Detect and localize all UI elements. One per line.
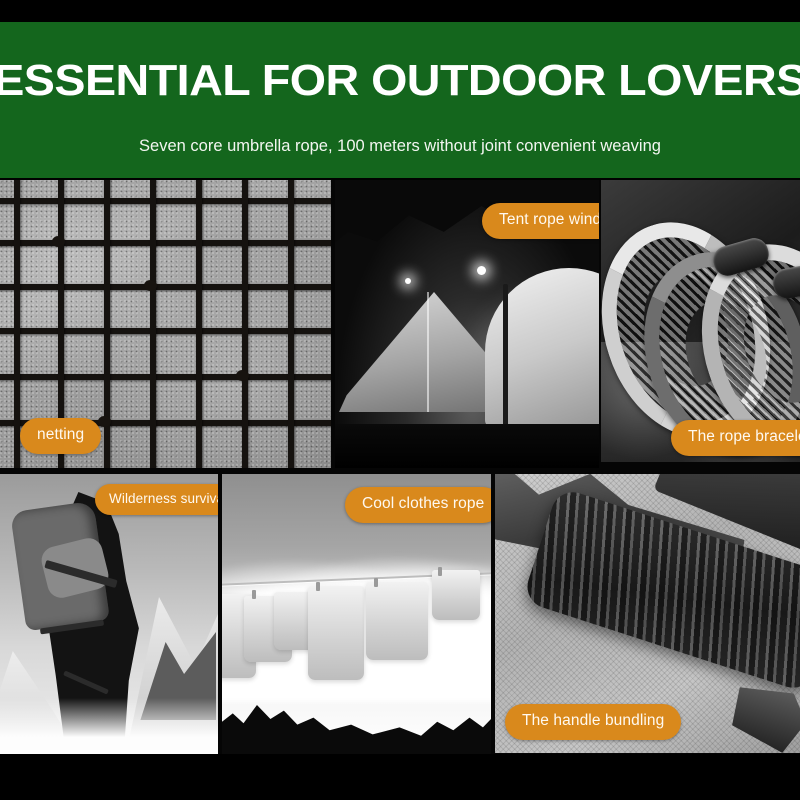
campsite-light — [405, 278, 411, 284]
clothes-peg — [316, 582, 320, 591]
net-rope-horizontal — [0, 198, 331, 204]
tent-seam — [427, 292, 429, 412]
label-rope-bracelet[interactable]: The rope bracelet — [671, 420, 800, 456]
hanging-garment — [366, 582, 428, 660]
net-rope-horizontal — [0, 328, 331, 334]
label-netting[interactable]: netting — [20, 418, 101, 454]
clothes-peg — [252, 590, 256, 599]
net-rope-vertical — [14, 180, 20, 468]
net-rope-horizontal — [0, 284, 331, 290]
product-infographic: ESSENTIAL FOR OUTDOOR LOVERS Seven core … — [0, 0, 800, 800]
photo-gallery: netting Tent rope wind The rop — [0, 180, 800, 754]
campsite-light — [477, 266, 486, 275]
photo-netting[interactable]: netting — [0, 180, 331, 468]
net-knot — [236, 370, 249, 381]
net-rope-vertical — [196, 180, 202, 468]
net-knot — [98, 416, 111, 427]
label-wilderness-survival[interactable]: Wilderness survival — [95, 484, 218, 515]
net-rope-horizontal — [0, 240, 331, 246]
net-rope-vertical — [288, 180, 294, 468]
photo-tent-rope-wind[interactable]: Tent rope wind — [335, 180, 599, 468]
net-rope-horizontal — [0, 374, 331, 380]
clothes-peg — [374, 578, 378, 587]
net-knot — [52, 236, 65, 247]
photo-cool-clothes-rope[interactable]: Cool clothes rope — [222, 474, 491, 754]
label-tent-rope-wind[interactable]: Tent rope wind — [482, 203, 599, 239]
hanging-garment — [308, 586, 364, 680]
photo-rope-bracelet[interactable]: The rope bracelet — [601, 180, 800, 462]
header-banner: ESSENTIAL FOR OUTDOOR LOVERS Seven core … — [0, 22, 800, 178]
page-title: ESSENTIAL FOR OUTDOOR LOVERS — [0, 56, 800, 106]
label-cool-clothes-rope[interactable]: Cool clothes rope — [345, 487, 491, 523]
page-subtitle: Seven core umbrella rope, 100 meters wit… — [0, 135, 800, 157]
hanging-garment — [432, 570, 480, 620]
photo-wilderness-survival[interactable]: Wilderness survival — [0, 474, 218, 754]
net-rope-vertical — [242, 180, 248, 468]
snow-foreground — [0, 698, 218, 754]
photo-handle-bundling[interactable]: The handle bundling — [495, 474, 800, 753]
tent-pole — [503, 284, 508, 430]
label-handle-bundling[interactable]: The handle bundling — [505, 704, 681, 740]
net-knot — [144, 280, 157, 291]
clothes-peg — [438, 567, 442, 576]
dark-ground — [335, 424, 599, 468]
net-rope-vertical — [150, 180, 156, 468]
